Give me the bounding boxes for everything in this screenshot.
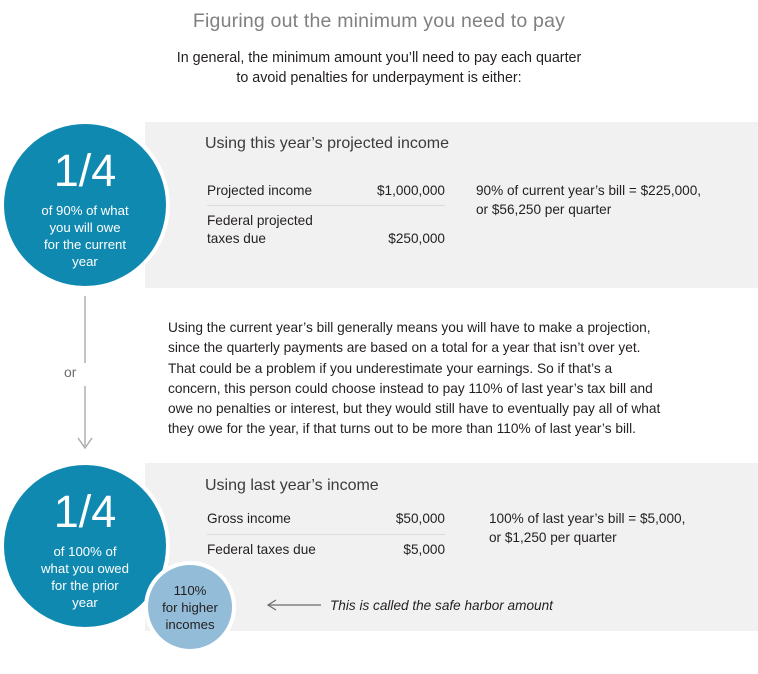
paragraph-line-5: owe no penalties or interest, but they w… [168, 399, 734, 419]
or-arrow-icon [36, 296, 168, 454]
badge-text: 110% for higher incomes [162, 582, 218, 633]
panel-two-figures: Gross income $50,000 Federal taxes due $… [207, 510, 445, 559]
safe-harbor-annotation: This is called the safe harbor amount [330, 598, 553, 613]
circle-one-line-4: year [41, 253, 128, 270]
row-value: $250,000 [357, 230, 445, 248]
explanatory-paragraph: Using the current year’s bill generally … [168, 318, 734, 440]
row-label-line-1: Federal projected [207, 212, 357, 230]
row-label: Projected income [207, 182, 357, 200]
row-label: Federal projected taxes due [207, 212, 357, 248]
fraction-one-quarter: 1/4 [54, 148, 117, 193]
paragraph-line-4: concern, this person could choose instea… [168, 379, 734, 399]
note-line-2: or $1,250 per quarter [489, 528, 685, 547]
panel-one-heading: Using this year’s projected income [205, 135, 449, 153]
higher-incomes-badge: 110% for higher incomes [144, 561, 236, 653]
paragraph-line-3: That could be a problem if you underesti… [168, 359, 734, 379]
table-divider [207, 534, 445, 535]
row-value: $50,000 [357, 510, 445, 528]
circle-one-line-3: for the current [41, 236, 128, 253]
fraction-one-quarter: 1/4 [54, 489, 117, 534]
row-label: Federal taxes due [207, 541, 357, 559]
row-label: Gross income [207, 510, 357, 528]
circle-two-line-2: what you owed [41, 560, 129, 577]
quarter-of-90-percent-circle: 1/4 of 90% of what you will owe for the … [0, 120, 170, 290]
or-connector: or [36, 296, 168, 454]
page-subtitle: In general, the minimum amount you’ll ne… [0, 48, 758, 88]
row-value: $1,000,000 [357, 182, 445, 200]
panel-one-figures: Projected income $1,000,000 Federal proj… [207, 182, 445, 248]
safe-harbor-arrow-icon [263, 598, 323, 612]
page-title: Figuring out the minimum you need to pay [0, 10, 758, 33]
circle-one-description: of 90% of what you will owe for the curr… [25, 202, 144, 270]
subtitle-line-1: In general, the minimum amount you’ll ne… [0, 48, 758, 68]
infographic-canvas: Figuring out the minimum you need to pay… [0, 0, 758, 674]
row-value: $5,000 [357, 541, 445, 559]
note-line-1: 90% of current year’s bill = $225,000, [476, 181, 701, 200]
badge-line-2: for higher [162, 599, 218, 616]
circle-two-description: of 100% of what you owed for the prior y… [25, 543, 145, 611]
table-row: Gross income $50,000 [207, 510, 445, 528]
circle-one-line-1: of 90% of what [41, 202, 128, 219]
note-line-1: 100% of last year’s bill = $5,000, [489, 509, 685, 528]
circle-two-line-4: year [41, 594, 129, 611]
panel-two-note: 100% of last year’s bill = $5,000, or $1… [489, 509, 685, 547]
badge-line-3: incomes [162, 616, 218, 633]
badge-line-1: 110% [162, 582, 218, 599]
projected-income-panel: Using this year’s projected income Proje… [145, 122, 758, 288]
or-label: or [64, 364, 76, 380]
circle-one-line-2: you will owe [41, 219, 128, 236]
table-divider [207, 205, 445, 206]
circle-two-line-3: for the prior [41, 577, 129, 594]
paragraph-line-6: they owe for the year, if that turns out… [168, 419, 734, 439]
panel-two-heading: Using last year’s income [205, 477, 379, 495]
subtitle-line-2: to avoid penalties for underpayment is e… [0, 68, 758, 88]
note-line-2: or $56,250 per quarter [476, 200, 701, 219]
paragraph-line-1: Using the current year’s bill generally … [168, 318, 734, 338]
table-row: Projected income $1,000,000 [207, 182, 445, 200]
paragraph-line-2: since the quarterly payments are based o… [168, 338, 734, 358]
table-row: Federal projected taxes due $250,000 [207, 212, 445, 248]
circle-two-line-1: of 100% of [41, 543, 129, 560]
panel-one-note: 90% of current year’s bill = $225,000, o… [476, 181, 701, 219]
table-row: Federal taxes due $5,000 [207, 541, 445, 559]
row-label-line-2: taxes due [207, 230, 357, 248]
